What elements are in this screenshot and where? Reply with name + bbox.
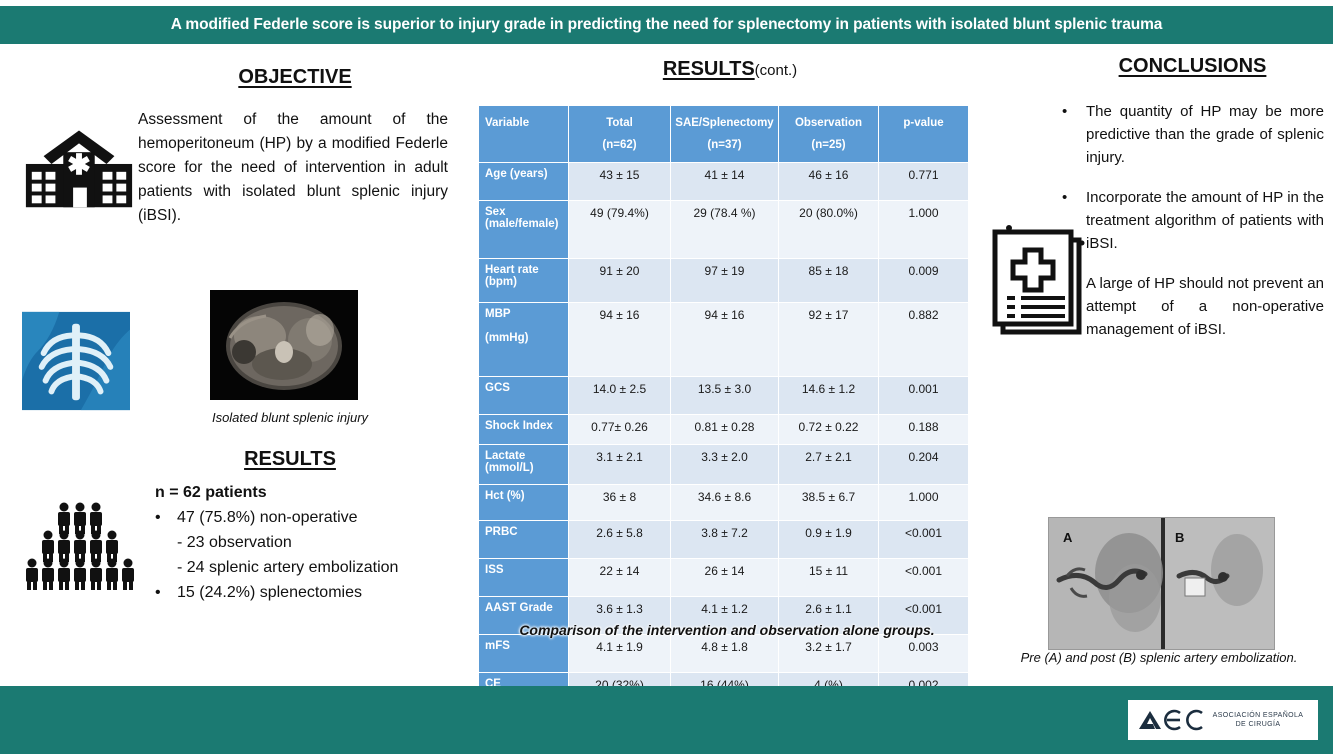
cell-observation: 2.7 ± 2.1 bbox=[779, 445, 879, 485]
table-row: Shock Index0.77± 0.260.81 ± 0.280.72 ± 0… bbox=[479, 415, 969, 445]
conclusions-list: • The quantity of HP may be more predict… bbox=[1062, 100, 1324, 358]
cell-p: 1.000 bbox=[879, 201, 969, 259]
column-header-pvalue: p-value bbox=[879, 106, 969, 163]
hospital-building-icon bbox=[20, 112, 138, 212]
row-header-4: MBP (mmHg) bbox=[479, 303, 569, 377]
cell-observation: 14.6 ± 1.2 bbox=[779, 377, 879, 415]
poster-title: A modified Federle score is superior to … bbox=[171, 16, 1163, 34]
aec-logo-line1: ASOCIACIÓN ESPAÑOLA bbox=[1206, 711, 1310, 720]
cell-p: 0.204 bbox=[879, 445, 969, 485]
aec-logo-line2: DE CIRUGÍA bbox=[1206, 720, 1310, 729]
objective-body: Assessment of the amount of the hemoperi… bbox=[138, 108, 448, 228]
comparison-table: Variable Total(n=62) SAE/Splenectomy(n=3… bbox=[478, 105, 969, 749]
list-item: - 24 splenic artery embolization bbox=[155, 555, 460, 580]
table-row: mFS4.1 ± 1.94.8 ± 1.83.2 ± 1.70.003 bbox=[479, 635, 969, 673]
cell-total: 0.77± 0.26 bbox=[569, 415, 671, 445]
row-header-7: Lactate (mmol/L) bbox=[479, 445, 569, 485]
ct-scan-image bbox=[210, 290, 358, 400]
column-header-observation: Observation(n=25) bbox=[779, 106, 879, 163]
row-header-3: Heart rate (bpm) bbox=[479, 259, 569, 303]
cell-p: 0.188 bbox=[879, 415, 969, 445]
table-row: Sex (male/female)49 (79.4%)29 (78.4 %)20… bbox=[479, 201, 969, 259]
list-item: • 15 (24.2%) splenectomies bbox=[155, 580, 460, 605]
list-item-label: - 23 observation bbox=[155, 530, 292, 555]
cell-observation: 0.9 ± 1.9 bbox=[779, 521, 879, 559]
angio-label-a: A bbox=[1063, 530, 1073, 545]
angiography-caption: Pre (A) and post (B) splenic artery embo… bbox=[985, 650, 1333, 665]
cell-sae: 3.8 ± 7.2 bbox=[671, 521, 779, 559]
row-header-10: ISS bbox=[479, 559, 569, 597]
cell-sae: 3.3 ± 2.0 bbox=[671, 445, 779, 485]
row-header-2: Sex (male/female) bbox=[479, 201, 569, 259]
table-row: Heart rate (bpm)91 ± 2097 ± 1985 ± 180.0… bbox=[479, 259, 969, 303]
cell-total: 94 ± 16 bbox=[569, 303, 671, 377]
list-item-label: 47 (75.8%) non-operative bbox=[177, 505, 358, 530]
results-cont-heading-suffix: (cont.) bbox=[755, 62, 798, 79]
conclusions-heading: CONCLUSIONS bbox=[1060, 55, 1325, 78]
row-header-6: Shock Index bbox=[479, 415, 569, 445]
results-bullet-list: • 47 (75.8%) non-operative - 23 observat… bbox=[155, 505, 460, 605]
column-header-variable: Variable bbox=[479, 106, 569, 163]
cell-total: 49 (79.4%) bbox=[569, 201, 671, 259]
medical-records-icon bbox=[985, 222, 1097, 340]
cell-p: 0.003 bbox=[879, 635, 969, 673]
cell-total: 43 ± 15 bbox=[569, 163, 671, 201]
table-header-row: Variable Total(n=62) SAE/Splenectomy(n=3… bbox=[479, 106, 969, 163]
cell-total: 22 ± 14 bbox=[569, 559, 671, 597]
table-row: GCS14.0 ± 2.513.5 ± 3.014.6 ± 1.20.001 bbox=[479, 377, 969, 415]
cell-observation: 20 (80.0%) bbox=[779, 201, 879, 259]
row-header-1: Age (years) bbox=[479, 163, 569, 201]
poster-title-banner: A modified Federle score is superior to … bbox=[0, 6, 1333, 44]
cell-total: 14.0 ± 2.5 bbox=[569, 377, 671, 415]
aec-logomark-icon bbox=[1136, 707, 1206, 733]
list-item-label: The quantity of HP may be more predictiv… bbox=[1086, 100, 1324, 169]
cell-observation: 92 ± 17 bbox=[779, 303, 879, 377]
bullet-glyph: • bbox=[155, 580, 177, 605]
cell-p: 0.001 bbox=[879, 377, 969, 415]
table-body: Age (years)43 ± 1541 ± 1446 ± 160.771Sex… bbox=[479, 163, 969, 749]
cell-observation: 38.5 ± 6.7 bbox=[779, 485, 879, 521]
table-row: MBP (mmHg)94 ± 1694 ± 1692 ± 170.882 bbox=[479, 303, 969, 377]
column-header-total: Total(n=62) bbox=[569, 106, 671, 163]
ct-image-caption: Isolated blunt splenic injury bbox=[150, 410, 430, 425]
cell-p: <0.001 bbox=[879, 521, 969, 559]
list-item-label: Incorporate the amount of HP in the trea… bbox=[1086, 186, 1324, 255]
row-header-8: Hct (%) bbox=[479, 485, 569, 521]
cell-total: 3.1 ± 2.1 bbox=[569, 445, 671, 485]
cell-observation: 85 ± 18 bbox=[779, 259, 879, 303]
column-header-sae-splenectomy: SAE/Splenectomy(n=37) bbox=[671, 106, 779, 163]
results-cont-heading: RESULTS (cont.) bbox=[540, 58, 920, 81]
cell-sae: 4.8 ± 1.8 bbox=[671, 635, 779, 673]
results-heading-left: RESULTS bbox=[140, 448, 440, 471]
cell-observation: 15 ± 11 bbox=[779, 559, 879, 597]
cell-sae: 26 ± 14 bbox=[671, 559, 779, 597]
row-header-9: PRBC bbox=[479, 521, 569, 559]
table-row: ISS22 ± 1426 ± 1415 ± 11<0.001 bbox=[479, 559, 969, 597]
xray-ribcage-icon bbox=[22, 311, 130, 411]
bullet-glyph: • bbox=[155, 505, 177, 530]
list-item: • Incorporate the amount of HP in the tr… bbox=[1062, 186, 1324, 255]
cell-p: 0.882 bbox=[879, 303, 969, 377]
cell-observation: 0.72 ± 0.22 bbox=[779, 415, 879, 445]
aec-logo-text: ASOCIACIÓN ESPAÑOLA DE CIRUGÍA bbox=[1206, 711, 1310, 729]
cell-sae: 94 ± 16 bbox=[671, 303, 779, 377]
list-item-label: 15 (24.2%) splenectomies bbox=[177, 580, 362, 605]
bullet-glyph: • bbox=[1062, 100, 1086, 169]
cell-observation: 46 ± 16 bbox=[779, 163, 879, 201]
aec-logo: ASOCIACIÓN ESPAÑOLA DE CIRUGÍA bbox=[1128, 700, 1318, 740]
cell-total: 4.1 ± 1.9 bbox=[569, 635, 671, 673]
cell-p: 1.000 bbox=[879, 485, 969, 521]
cell-p: 0.009 bbox=[879, 259, 969, 303]
cell-p: <0.001 bbox=[879, 559, 969, 597]
group-of-patients-icon bbox=[20, 500, 140, 590]
table-caption: Comparison of the intervention and obser… bbox=[484, 622, 970, 638]
list-item: - 23 observation bbox=[155, 530, 460, 555]
cell-sae: 13.5 ± 3.0 bbox=[671, 377, 779, 415]
cell-sae: 41 ± 14 bbox=[671, 163, 779, 201]
cell-observation: 3.2 ± 1.7 bbox=[779, 635, 879, 673]
table-row: PRBC2.6 ± 5.83.8 ± 7.20.9 ± 1.9<0.001 bbox=[479, 521, 969, 559]
cell-total: 36 ± 8 bbox=[569, 485, 671, 521]
cell-sae: 0.81 ± 0.28 bbox=[671, 415, 779, 445]
angiography-images: A B bbox=[1048, 517, 1275, 650]
cell-total: 91 ± 20 bbox=[569, 259, 671, 303]
cell-sae: 34.6 ± 8.6 bbox=[671, 485, 779, 521]
list-item-label: A large of HP should not prevent an atte… bbox=[1086, 272, 1324, 341]
results-patient-count: n = 62 patients bbox=[155, 484, 267, 502]
cell-p: 0.771 bbox=[879, 163, 969, 201]
objective-heading: OBJECTIVE bbox=[150, 66, 440, 89]
list-item: • The quantity of HP may be more predict… bbox=[1062, 100, 1324, 169]
cell-sae: 29 (78.4 %) bbox=[671, 201, 779, 259]
table-row: Hct (%)36 ± 834.6 ± 8.638.5 ± 6.71.000 bbox=[479, 485, 969, 521]
angio-label-b: B bbox=[1175, 530, 1184, 545]
table-row: Lactate (mmol/L)3.1 ± 2.13.3 ± 2.02.7 ± … bbox=[479, 445, 969, 485]
table-row: Age (years)43 ± 1541 ± 1446 ± 160.771 bbox=[479, 163, 969, 201]
cell-sae: 97 ± 19 bbox=[671, 259, 779, 303]
results-cont-heading-main: RESULTS bbox=[663, 58, 755, 80]
list-item: • 47 (75.8%) non-operative bbox=[155, 505, 460, 530]
list-item-label: - 24 splenic artery embolization bbox=[155, 555, 398, 580]
cell-total: 2.6 ± 5.8 bbox=[569, 521, 671, 559]
row-header-12: mFS bbox=[479, 635, 569, 673]
row-header-5: GCS bbox=[479, 377, 569, 415]
list-item: • A large of HP should not prevent an at… bbox=[1062, 272, 1324, 341]
